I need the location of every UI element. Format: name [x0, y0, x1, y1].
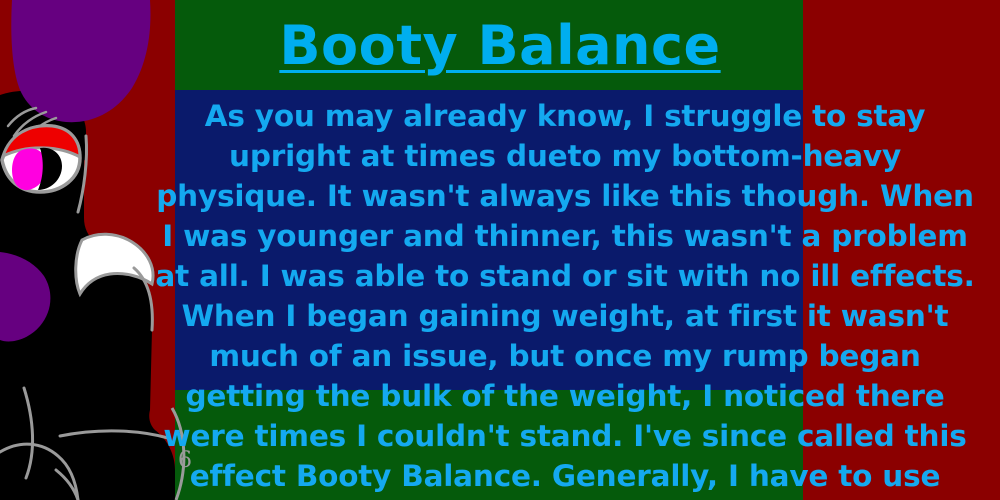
- page-number: 6: [178, 448, 192, 473]
- title-banner-panel: [175, 0, 803, 90]
- comic-page: Booty Balance As you may already know, I…: [0, 0, 1000, 500]
- story-paragraph: As you may already know, I struggle to s…: [150, 96, 980, 500]
- mane-purple-top: [11, 0, 150, 122]
- body-text-block: As you may already know, I struggle to s…: [150, 96, 980, 500]
